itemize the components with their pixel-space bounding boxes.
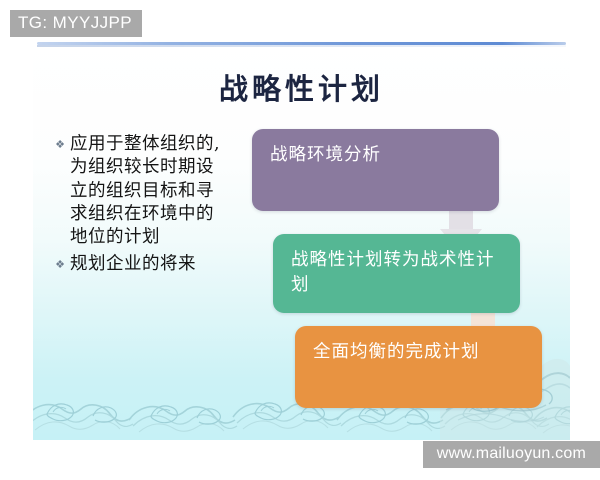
site-watermark-badge: www.mailuoyun.com [423, 441, 600, 468]
diamond-bullet-icon: ❖ [52, 260, 68, 271]
tg-watermark-badge: TG: MYYJJPP [10, 10, 142, 37]
list-item: ❖ 应用于整体组织的,为组织较长时期设立的组织目标和寻求组织在环境中的地位的计划 [52, 133, 242, 249]
list-item: ❖ 规划企业的将来 [52, 253, 242, 276]
flow-box-balanced-completion-plan: 全面均衡的完成计划 [295, 326, 542, 408]
bullet-text: 规划企业的将来 [70, 253, 228, 276]
flow-box-strategic-to-tactical-plan: 战略性计划转为战术性计划 [273, 234, 520, 313]
top-rule-shadow [37, 45, 566, 47]
flow-box-strategic-environment-analysis: 战略环境分析 [252, 129, 499, 211]
presentation-slide: 战略性计划 ❖ 应用于整体组织的,为组织较长时期设立的组织目标和寻求组织在环境中… [33, 36, 570, 440]
diamond-bullet-icon: ❖ [52, 140, 68, 151]
bullet-list: ❖ 应用于整体组织的,为组织较长时期设立的组织目标和寻求组织在环境中的地位的计划… [52, 133, 242, 281]
bullet-text: 应用于整体组织的,为组织较长时期设立的组织目标和寻求组织在环境中的地位的计划 [70, 133, 228, 249]
slide-title: 战略性计划 [33, 66, 570, 108]
